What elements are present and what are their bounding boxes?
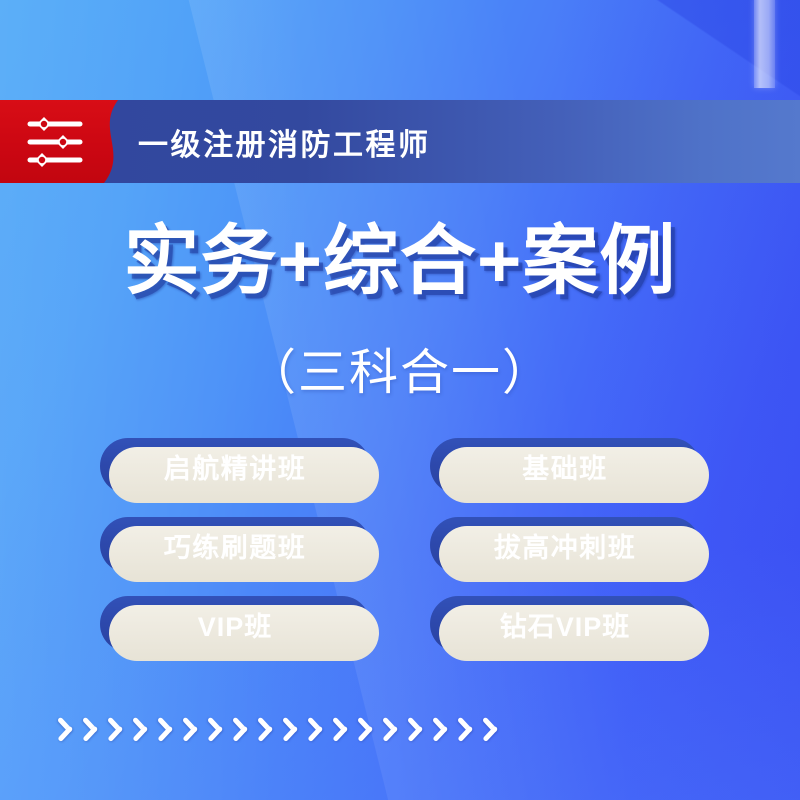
course-pill-grid: 启航精讲班 基础班 巧练刷题班 拔高冲刺班 VIP班 钻石VIP班 <box>100 438 700 652</box>
chevron-right-icon <box>308 706 323 750</box>
chevron-right-icon <box>58 706 73 750</box>
chevron-right-icon <box>433 706 448 750</box>
course-pill-qihang-jingjiang[interactable]: 启航精讲班 <box>100 438 370 494</box>
chevron-right-icon <box>108 706 123 750</box>
course-pill-row: 启航精讲班 基础班 <box>100 438 700 494</box>
course-pill-row: 巧练刷题班 拔高冲刺班 <box>100 517 700 573</box>
chevron-right-icon <box>208 706 223 750</box>
chevron-right-icon <box>458 706 473 750</box>
page-title: 实务+综合+案例 <box>0 222 800 302</box>
exam-category-title: 一级注册消防工程师 <box>138 100 431 183</box>
chevron-right-icon <box>258 706 273 750</box>
page-subtitle: （三科合一） <box>0 333 800 404</box>
chevron-right-icon <box>383 706 398 750</box>
course-pill-vip[interactable]: VIP班 <box>100 596 370 652</box>
chevron-right-icon <box>233 706 248 750</box>
chevron-right-icon <box>283 706 298 750</box>
slider-settings-icon <box>27 113 83 171</box>
chevron-right-icon <box>183 706 198 750</box>
chevron-right-icon <box>158 706 173 750</box>
course-pill-qiaolian-shuati[interactable]: 巧练刷题班 <box>100 517 370 573</box>
chevron-right-icon <box>133 706 148 750</box>
chevron-right-icon <box>83 706 98 750</box>
chevron-right-icon <box>483 706 498 750</box>
corner-wedge-decoration <box>650 0 800 115</box>
chevron-right-icon <box>333 706 348 750</box>
course-pill-row: VIP班 钻石VIP班 <box>100 596 700 652</box>
course-pill-diamond-vip[interactable]: 钻石VIP班 <box>430 596 700 652</box>
course-pill-bagao-chongci[interactable]: 拔高冲刺班 <box>430 517 700 573</box>
course-pill-jichu[interactable]: 基础班 <box>430 438 700 494</box>
vertical-light-bar-decoration <box>754 0 775 88</box>
chevron-arrow-strip <box>58 706 498 750</box>
promo-poster: 一级注册消防工程师 实务+综合+案例 （三科合一） 启航精讲班 基础班 巧练刷题… <box>0 0 800 800</box>
chevron-right-icon <box>358 706 373 750</box>
chevron-right-icon <box>408 706 423 750</box>
